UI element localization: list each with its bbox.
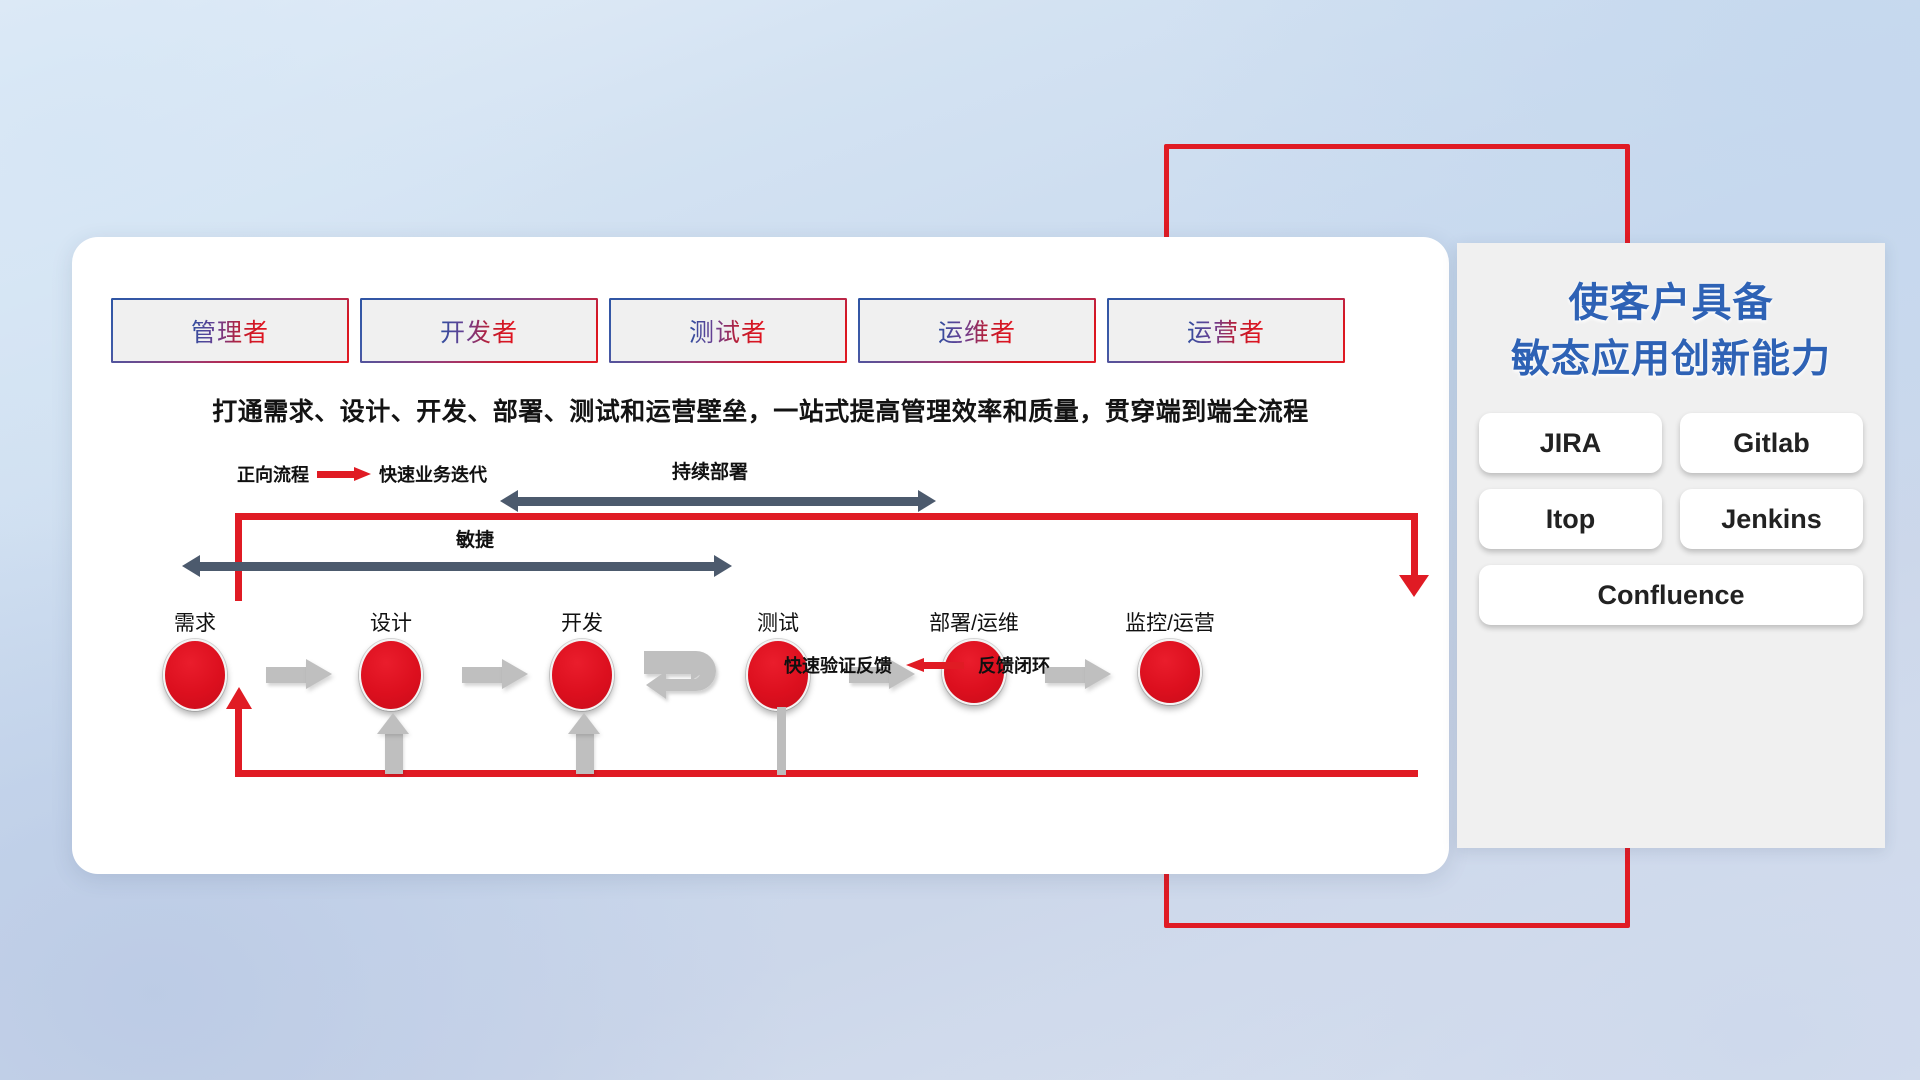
role-chip-label: 测试者 [689,313,767,349]
slide-canvas: 管理者 开发者 测试者 运维者 运营者 打通需求、设计、开发、部署、测试和运营壁… [0,0,1920,1080]
role-chip-row: 管理者 开发者 测试者 运维者 运营者 [113,300,1343,361]
riser-testing-line [777,707,786,775]
riser-development-head-icon [568,713,600,734]
loop-line-top [235,513,1418,520]
right-panel-title-line2: 敏态应用创新能力 [1457,332,1885,387]
stage-monitor-operations[interactable]: 监控/运营 [1110,607,1230,705]
role-chip-ops[interactable]: 运维者 [860,300,1094,361]
stage-dot [359,639,423,711]
legend-feedback-loop: 快速验证反馈 反馈闭环 [784,652,1050,678]
stage-label: 需求 [135,607,255,637]
stage-label: 监控/运营 [1110,607,1230,637]
arrow-bar [198,562,716,571]
role-chip-operations[interactable]: 运营者 [1109,300,1343,361]
tool-tile-confluence[interactable]: Confluence [1479,565,1863,625]
right-panel-title: 使客户具备 敏态应用创新能力 [1457,243,1885,387]
tool-tile-grid: JIRA Gitlab Itop Jenkins Confluence [1457,387,1885,625]
span-label-agile: 敏捷 [456,525,494,552]
role-chip-developer[interactable]: 开发者 [362,300,596,361]
stage-label: 设计 [331,607,451,637]
role-chip-tester[interactable]: 测试者 [611,300,845,361]
right-side-panel: 使客户具备 敏态应用创新能力 JIRA Gitlab Itop Jenkins … [1457,243,1885,848]
role-chip-manager[interactable]: 管理者 [113,300,347,361]
role-chip-label: 运营者 [1187,313,1265,349]
connector-arrow-1-icon [266,659,332,689]
stage-dot [163,639,227,711]
arrow-head-right-icon [714,555,732,577]
riser-design-body [385,732,403,774]
stage-label: 测试 [718,607,838,637]
tool-tile-label: Itop [1546,504,1595,535]
legend-feedback-right-label: 反馈闭环 [978,652,1050,678]
stage-development[interactable]: 开发 [522,607,642,711]
arrow-body [1045,667,1087,683]
tool-tile-jenkins[interactable]: Jenkins [1680,489,1863,549]
tool-tile-label: Confluence [1597,580,1744,611]
riser-design-head-icon [377,713,409,734]
tool-tile-label: JIRA [1540,428,1602,459]
arrow-head [306,659,332,689]
legend-forward-left-label: 正向流程 [237,461,309,487]
arrow-right-red-icon [317,467,371,481]
arrow-head-right-icon [918,490,936,512]
stage-dot [1138,639,1202,705]
tool-tile-label: Jenkins [1721,504,1822,535]
tool-tile-label: Gitlab [1733,428,1810,459]
main-diagram-card: 管理者 开发者 测试者 运维者 运营者 打通需求、设计、开发、部署、测试和运营壁… [72,237,1449,874]
span-label-continuous-deployment: 持续部署 [672,457,748,484]
legend-feedback-left-label: 快速验证反馈 [784,652,892,678]
arrow-head [1085,659,1111,689]
stage-label: 部署/运维 [914,607,1034,637]
tool-tile-gitlab[interactable]: Gitlab [1680,413,1863,473]
tool-tile-jira[interactable]: JIRA [1479,413,1662,473]
stage-row: 需求 设计 开发 [113,607,1413,737]
tool-tile-itop[interactable]: Itop [1479,489,1662,549]
stage-label: 开发 [522,607,642,637]
headline-text: 打通需求、设计、开发、部署、测试和运营壁垒，一站式提高管理效率和质量，贯穿端到端… [72,392,1449,428]
arrow-body [266,667,308,683]
role-chip-label: 开发者 [440,313,518,349]
arrow-bar [516,497,920,506]
connector-arrow-4-icon [1045,659,1111,689]
right-panel-title-line1: 使客户具备 [1457,275,1885,332]
legend-forward-right-label: 快速业务迭代 [379,461,487,487]
role-chip-label: 管理者 [191,313,269,349]
loop-line-right [1411,513,1418,579]
loop-line-bottom [235,770,1418,777]
span-arrow-agile [182,555,732,577]
span-arrow-continuous-deployment [500,490,936,512]
role-chip-label: 运维者 [938,313,1016,349]
arrow-body [462,667,504,683]
arrow-left-red-icon [906,658,964,672]
connector-arrow-2-icon [462,659,528,689]
stage-requirement[interactable]: 需求 [135,607,255,711]
loop-arrow-head-down-icon [1399,575,1429,597]
stage-design[interactable]: 设计 [331,607,451,711]
riser-development-body [576,732,594,774]
legend-forward-flow: 正向流程 快速业务迭代 [237,461,487,487]
stage-dot [550,639,614,711]
